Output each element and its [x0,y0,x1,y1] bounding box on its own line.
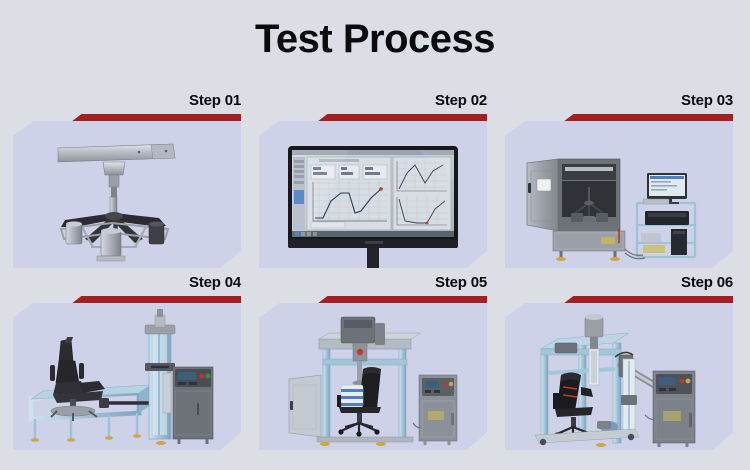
step-card-03[interactable]: Step 03 [505,92,737,268]
step-image-container-06 [505,303,733,450]
step-card-01[interactable]: Step 01 [13,92,245,268]
step-label-03: Step 03 [681,92,733,109]
chair-combined-gantry-tester-photo [505,303,733,450]
step-label-05: Step 05 [435,274,487,291]
steps-grid: Step 01 [0,92,750,450]
step-image-container-03 [505,121,733,268]
step-card-02[interactable]: Step 02 [259,92,491,268]
step-label-04: Step 04 [189,274,241,291]
step-image-container-05 [259,303,487,450]
step-accent-bar-02 [259,114,487,121]
step-label-02: Step 02 [435,92,487,109]
step-accent-bar-06 [505,296,733,303]
step-image-container-04 [13,303,241,450]
seat-impact-drop-tester-photo [259,303,487,450]
step-accent-bar-03 [505,114,733,121]
step-card-05[interactable]: Step 05 [259,274,491,450]
step-label-01: Step 01 [189,92,241,109]
step-image-container-01 [13,121,241,268]
step-accent-bar-01 [13,114,241,121]
enclosed-test-cabinet-with-computer-cart-photo [505,121,733,268]
step-label-06: Step 06 [681,274,733,291]
step-image-container-02 [259,121,487,268]
step-card-04[interactable]: Step 04 [13,274,245,450]
step-accent-bar-05 [259,296,487,303]
chair-backrest-horizontal-durability-tester-photo [13,303,241,450]
page-title: Test Process [0,0,750,62]
step-accent-bar-04 [13,296,241,303]
chair-base-caster-durability-tester-photo [13,121,241,268]
test-software-monitor-display-photo [259,121,487,268]
step-card-06[interactable]: Step 06 [505,274,737,450]
